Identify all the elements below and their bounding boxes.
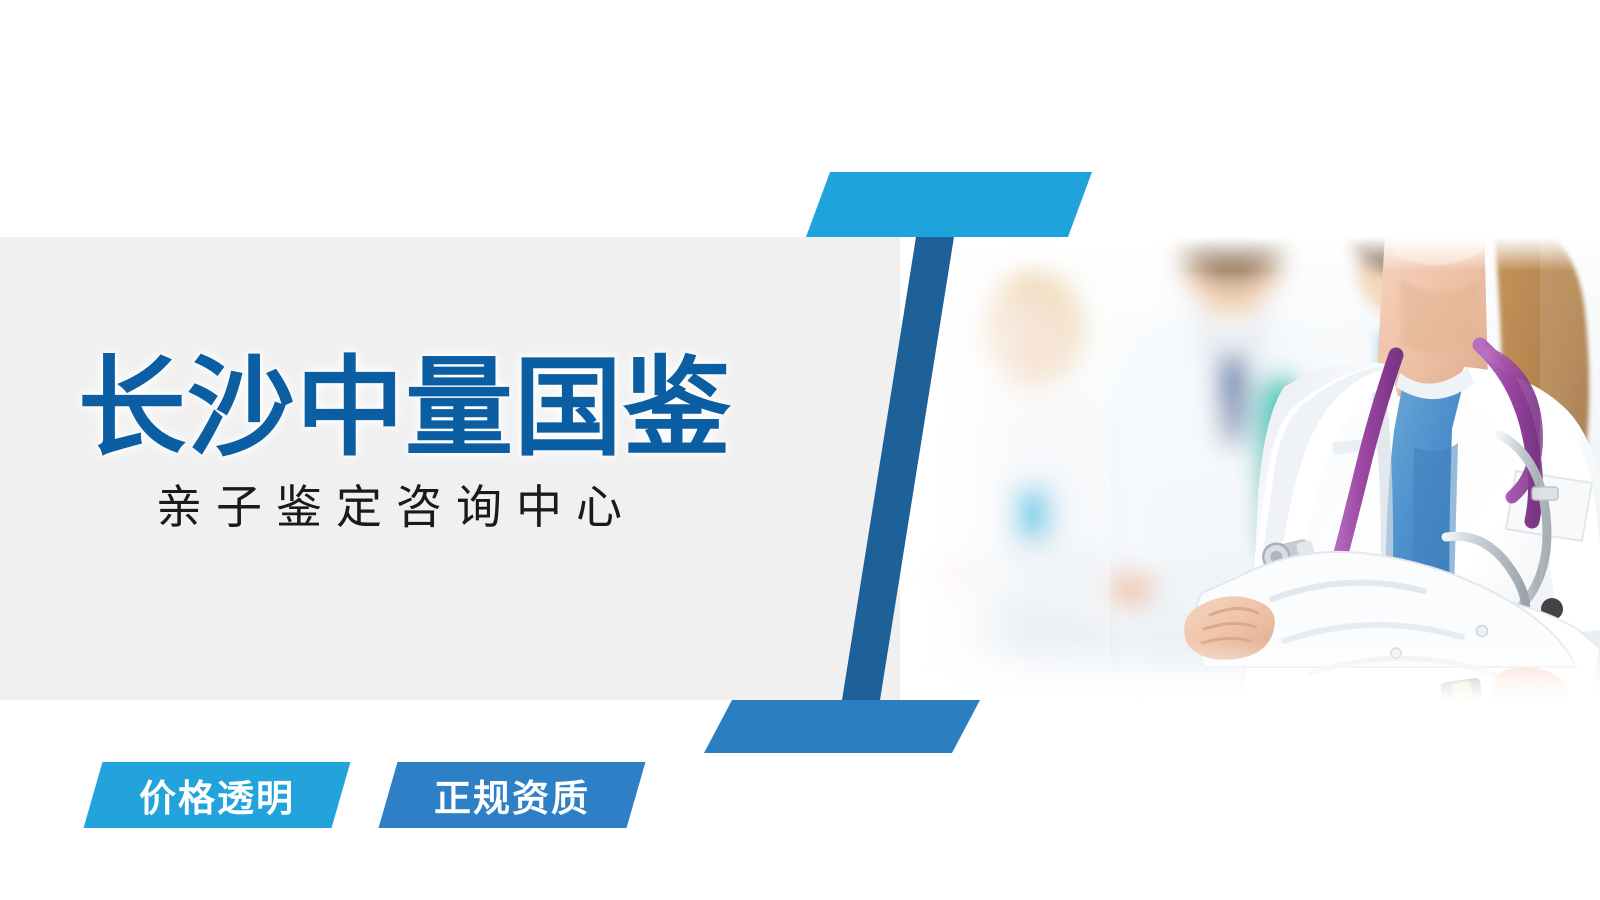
badge-label-0: 价格透明 — [139, 768, 295, 822]
bottom-accent-bar — [680, 695, 1000, 757]
headline-block: 长沙中量国鉴 亲子鉴定咨询中心 — [78, 352, 778, 533]
badge-label-1: 正规资质 — [434, 768, 590, 822]
badge-price-transparent[interactable]: 价格透明 — [93, 762, 341, 828]
medical-team-photo — [880, 237, 1600, 700]
page-title: 长沙中量国鉴 — [78, 352, 778, 466]
diagonal-slash — [820, 237, 980, 700]
badge-formal-qualification[interactable]: 正规资质 — [388, 762, 636, 828]
top-accent-bar — [780, 165, 1110, 245]
promo-banner: 长沙中量国鉴 亲子鉴定咨询中心 价格透明 正规资质 — [0, 0, 1600, 900]
page-subtitle: 亲子鉴定咨询中心 — [156, 482, 778, 533]
